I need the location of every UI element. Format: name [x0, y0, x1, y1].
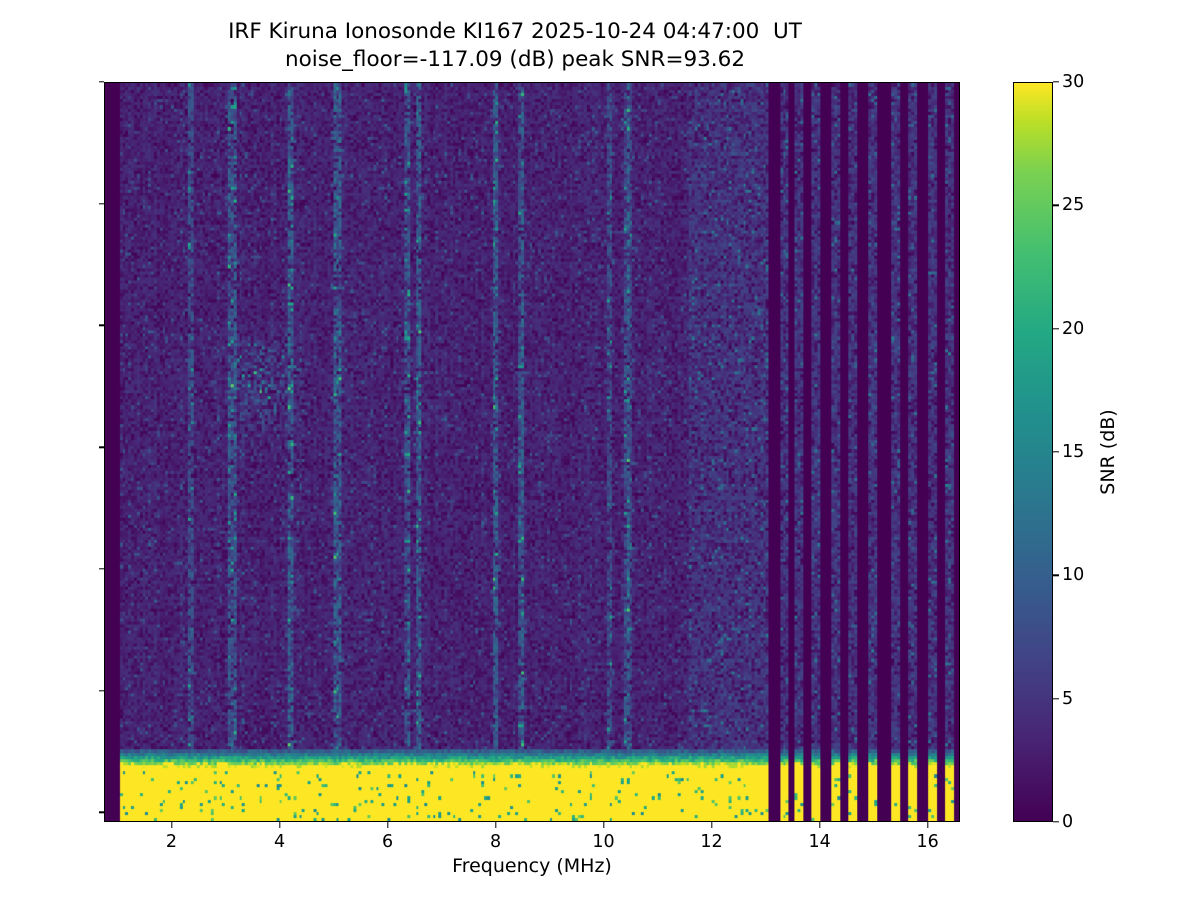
title-line-1: IRF Kiruna Ionosonde KI167 2025-10-24 04…	[0, 18, 1030, 46]
colorbar-tick-mark	[1053, 205, 1059, 206]
colorbar-tick-mark	[1053, 821, 1059, 822]
colorbar-tick-mark	[1053, 328, 1059, 329]
x-tick-label: 16	[916, 832, 938, 852]
figure-title: IRF Kiruna Ionosonde KI167 2025-10-24 04…	[0, 18, 1030, 74]
y-tick-mark	[99, 690, 105, 691]
x-tick-mark	[927, 822, 928, 828]
colorbar-tick-label: 20	[1062, 319, 1084, 339]
x-axis-label: Frequency (MHz)	[104, 855, 960, 877]
colorbar-tick-mark	[1053, 575, 1059, 576]
colorbar-tick-label: 15	[1062, 442, 1084, 462]
colorbar-label: SNR (dB)	[1097, 302, 1119, 602]
x-tick-mark	[711, 822, 712, 828]
x-tick-label: 14	[808, 832, 830, 852]
colorbar-tick-label: 0	[1062, 812, 1073, 832]
colorbar-tick-label: 30	[1062, 72, 1084, 92]
y-tick-mark	[99, 203, 105, 204]
y-tick-mark	[99, 446, 105, 447]
ionogram-figure: IRF Kiruna Ionosonde KI167 2025-10-24 04…	[0, 0, 1200, 900]
colorbar-tick-label: 25	[1062, 195, 1084, 215]
x-tick-mark	[495, 822, 496, 828]
colorbar-tick-label: 5	[1062, 689, 1073, 709]
colorbar-tick-mark	[1053, 81, 1059, 82]
x-tick-mark	[279, 822, 280, 828]
colorbar-tick-mark	[1053, 698, 1059, 699]
title-line-2: noise_floor=-117.09 (dB) peak SNR=93.62	[0, 46, 1030, 74]
x-tick-label: 8	[490, 832, 501, 852]
x-tick-label: 4	[274, 832, 285, 852]
x-tick-mark	[171, 822, 172, 828]
x-tick-label: 6	[382, 832, 393, 852]
x-tick-mark	[603, 822, 604, 828]
colorbar-tick-mark	[1053, 451, 1059, 452]
plot-axes	[104, 82, 960, 822]
colorbar-tick-label: 10	[1062, 565, 1084, 585]
y-tick-mark	[99, 81, 105, 82]
y-tick-mark	[99, 325, 105, 326]
y-tick-mark	[99, 812, 105, 813]
y-tick-mark	[99, 568, 105, 569]
x-tick-mark	[819, 822, 820, 828]
x-tick-label: 12	[700, 832, 722, 852]
x-tick-label: 10	[592, 832, 614, 852]
x-tick-label: 2	[166, 832, 177, 852]
colorbar-gradient	[1014, 83, 1052, 821]
colorbar	[1013, 82, 1053, 822]
x-tick-mark	[387, 822, 388, 828]
ionogram-heatmap	[105, 83, 959, 821]
